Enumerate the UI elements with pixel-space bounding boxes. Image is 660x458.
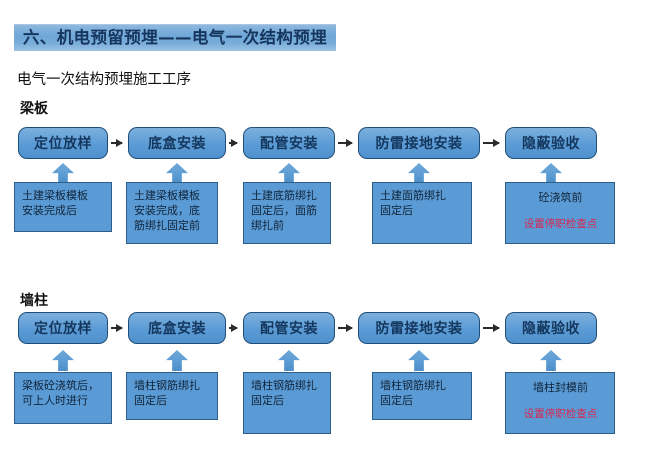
- up-arrow-icon: [278, 163, 300, 184]
- note-line: 固定后: [380, 393, 465, 408]
- note-line: 砼浇筑前: [513, 190, 608, 205]
- flow-arrow: [229, 327, 237, 329]
- process-step[interactable]: 底盒安装: [128, 127, 226, 159]
- flow-arrow: [483, 142, 499, 144]
- condition-note: 梁板砼浇筑后，可上人时进行: [14, 372, 112, 424]
- up-arrow-icon: [408, 350, 430, 371]
- condition-note: 墙柱钢筋绑扎固定后: [126, 372, 218, 420]
- condition-note: 墙柱钢筋绑扎固定后: [372, 372, 472, 420]
- note-checkpoint-text: 设置停职检查点: [513, 217, 608, 232]
- flow-arrow: [111, 327, 122, 329]
- note-line: 安装完成，底: [134, 203, 211, 218]
- process-step[interactable]: 防雷接地安装: [358, 127, 480, 159]
- up-arrow-icon: [52, 350, 74, 371]
- condition-note: 土建梁板模板安装完成，底筋绑扎固定前: [126, 182, 218, 244]
- page-title-banner: 六、机电预留预埋——电气一次结构预埋: [14, 24, 336, 51]
- flow-arrow: [111, 142, 122, 144]
- process-step[interactable]: 防雷接地安装: [358, 312, 480, 344]
- process-step[interactable]: 配管安装: [243, 312, 335, 344]
- note-line: 梁板砼浇筑后，: [22, 378, 105, 393]
- up-arrow-icon: [52, 163, 74, 184]
- note-line: 安装完成后: [22, 203, 105, 218]
- flow-arrow: [338, 327, 352, 329]
- note-line: 土建梁板模板: [22, 188, 105, 203]
- condition-note: 土建梁板模板安装完成后: [14, 182, 112, 232]
- note-line: 土建梁板模板: [134, 188, 211, 203]
- note-line: 固定后: [134, 393, 211, 408]
- note-line: 土建底筋绑扎: [251, 188, 324, 203]
- note-line: 墙柱封模前: [513, 380, 608, 395]
- process-step[interactable]: 隐蔽验收: [505, 127, 597, 159]
- note-line: 筋绑扎固定前: [134, 218, 211, 233]
- condition-note: 墙柱钢筋绑扎固定后: [243, 372, 331, 434]
- note-line: 墙柱钢筋绑扎: [134, 378, 211, 393]
- process-step[interactable]: 定位放样: [18, 127, 108, 159]
- process-step[interactable]: 底盒安装: [128, 312, 226, 344]
- page-subtitle: 电气一次结构预埋施工工序: [17, 68, 191, 89]
- up-arrow-icon: [166, 163, 188, 184]
- condition-note: 土建底筋绑扎固定后，面筋绑扎前: [243, 182, 331, 244]
- note-line: 固定后，面筋: [251, 203, 324, 218]
- condition-note: 砼浇筑前设置停职检查点: [505, 182, 615, 244]
- note-line: 固定后: [251, 393, 324, 408]
- up-arrow-icon: [540, 163, 562, 184]
- condition-note: 墙柱封模前设置停职检查点: [505, 372, 615, 434]
- note-line: 墙柱钢筋绑扎: [251, 378, 324, 393]
- page-title: 六、机电预留预埋——电气一次结构预埋: [23, 30, 327, 47]
- flow-arrow: [338, 142, 352, 144]
- note-checkpoint-text: 设置停职检查点: [513, 407, 608, 422]
- up-arrow-icon: [540, 350, 562, 371]
- note-line: 墙柱钢筋绑扎: [380, 378, 465, 393]
- flow-arrow: [483, 327, 499, 329]
- up-arrow-icon: [408, 163, 430, 184]
- note-line: 可上人时进行: [22, 393, 105, 408]
- process-step[interactable]: 配管安装: [243, 127, 335, 159]
- note-line: 固定后: [380, 203, 465, 218]
- note-line: 绑扎前: [251, 218, 324, 233]
- process-step[interactable]: 定位放样: [18, 312, 108, 344]
- up-arrow-icon: [278, 350, 300, 371]
- condition-note: 土建面筋绑扎固定后: [372, 182, 472, 244]
- flow-arrow: [229, 142, 237, 144]
- process-step[interactable]: 隐蔽验收: [505, 312, 597, 344]
- note-line: 土建面筋绑扎: [380, 188, 465, 203]
- up-arrow-icon: [166, 350, 188, 371]
- section-label-2: 墙柱: [20, 290, 48, 310]
- section-label-1: 梁板: [20, 98, 48, 118]
